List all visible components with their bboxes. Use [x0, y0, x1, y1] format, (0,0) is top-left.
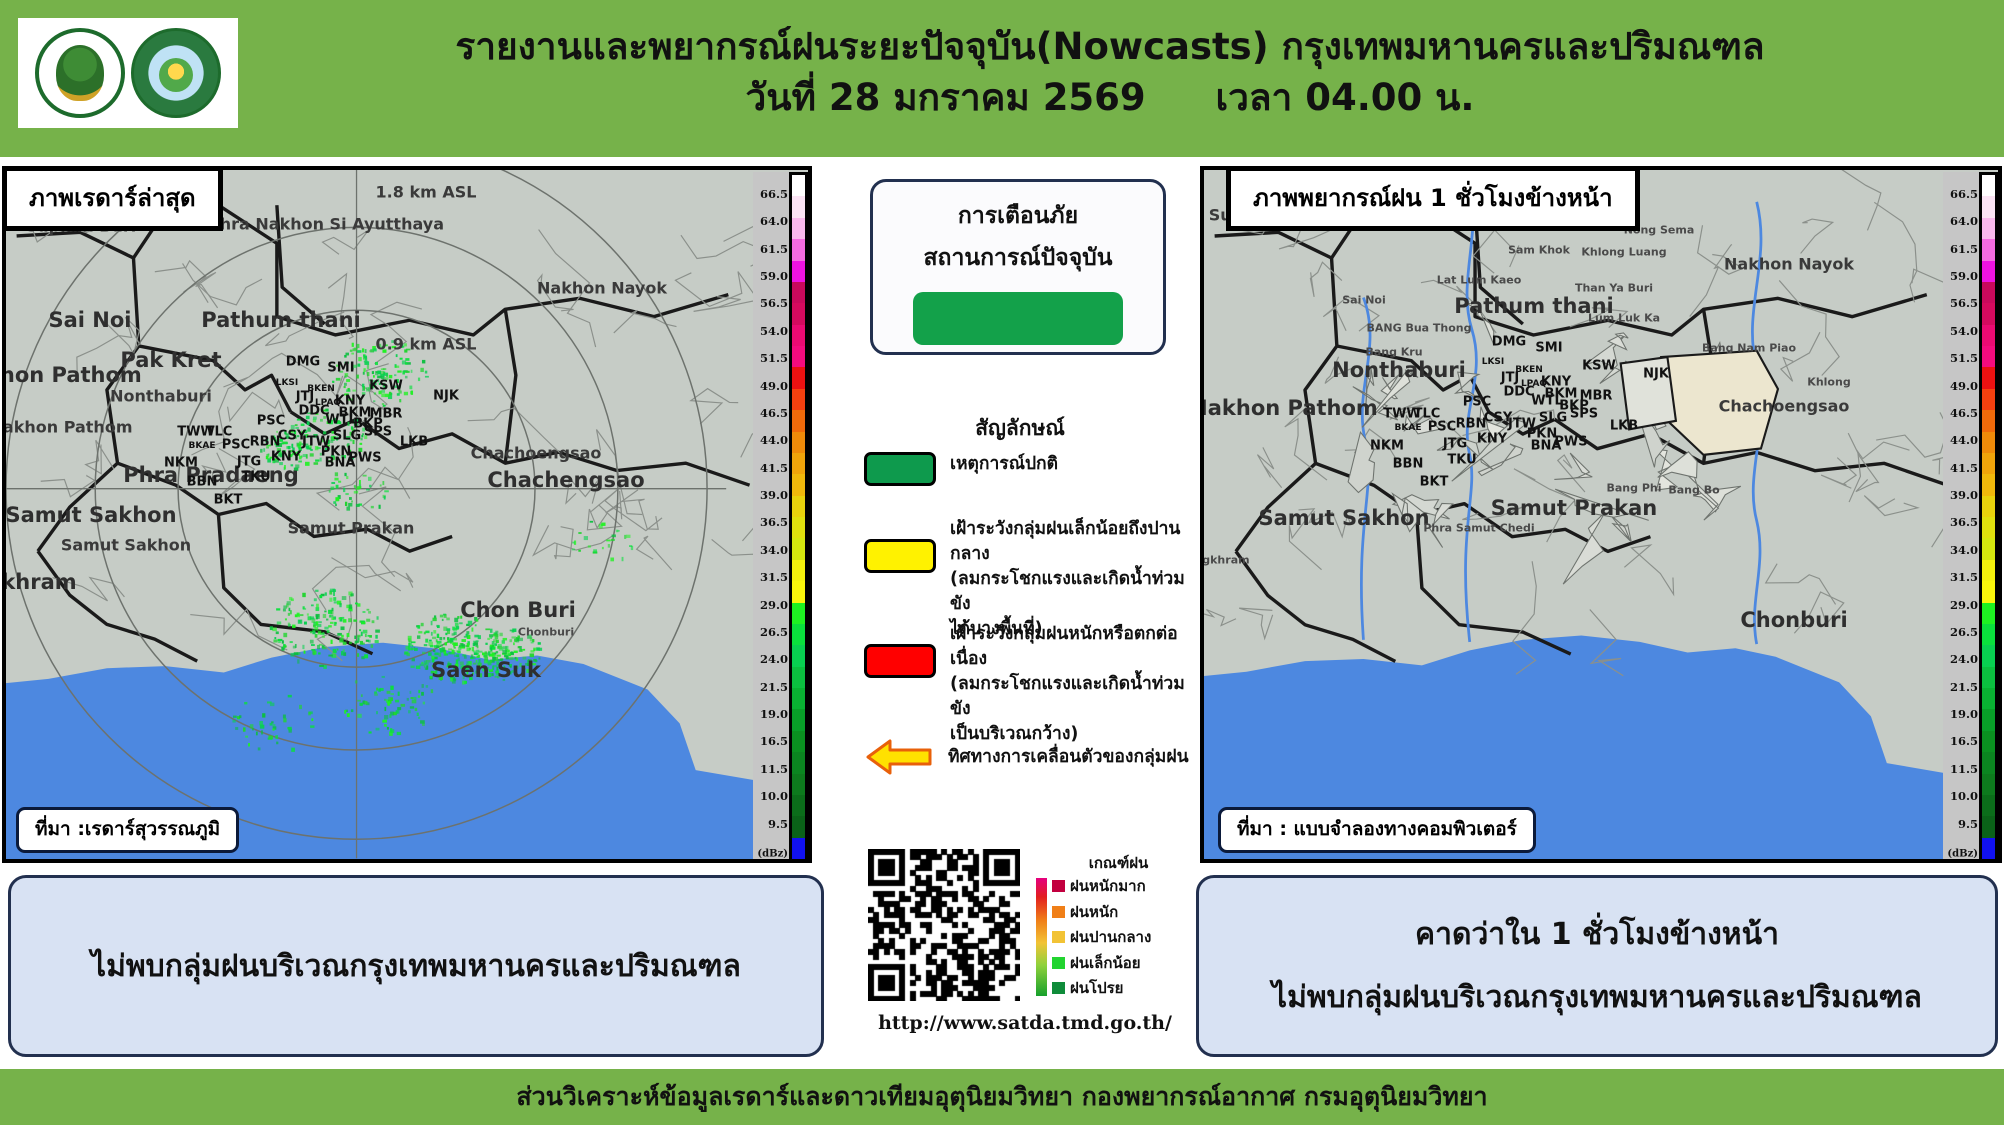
forecast-panel-title: ภาพพยากรณ์ฝน 1 ชั่วโมงข้างหน้า	[1226, 166, 1640, 231]
legend-label-movement: ทิศทางการเคลื่อนตัวของกลุ่มฝน	[948, 745, 1189, 770]
colorbar-band	[1982, 346, 1995, 367]
rain-scale-item: ฝนเล็กน้อย	[1052, 955, 1151, 971]
forecast-map-graphic	[1204, 170, 1998, 863]
rain-scale-chip	[1052, 982, 1065, 994]
alert-card: การเตือนภัย สถานการณ์ปัจจุบัน	[870, 179, 1166, 355]
radar-panel-title: ภาพเรดาร์ล่าสุด	[2, 166, 223, 231]
colorbar-tick: 54.0	[760, 324, 788, 338]
colorbar-tick: 51.5	[1950, 351, 1978, 365]
legend-heading: สัญลักษณ์	[840, 412, 1200, 445]
colorbar-band	[792, 325, 805, 346]
colorbar-tick: 11.5	[1950, 762, 1978, 776]
colorbar-band	[792, 752, 805, 773]
colorbar-tick: 34.0	[760, 543, 788, 557]
colorbar-band	[792, 432, 805, 453]
radar-colorbar: 66.564.061.559.056.554.051.549.046.544.0…	[753, 172, 808, 862]
colorbar-tick: 61.5	[1950, 242, 1978, 256]
colorbar-tick: 19.0	[760, 707, 788, 721]
colorbar-tick: 31.5	[760, 570, 788, 584]
colorbar-band	[792, 175, 805, 196]
forecast-map-panel[interactable]: ภาพพยากรณ์ฝน 1 ชั่วโมงข้างหน้า ที่มา : แ…	[1200, 166, 2002, 863]
colorbar-band	[1982, 688, 1995, 709]
colorbar-band	[792, 261, 805, 282]
colorbar-band	[1982, 645, 1995, 666]
colorbar-band	[1982, 325, 1995, 346]
page-header: รายงานและพยากรณ์ฝนระยะปัจจุบัน(Nowcasts)…	[0, 0, 2004, 157]
colorbar-band	[792, 688, 805, 709]
radar-summary-box: ไม่พบกลุ่มฝนบริเวณกรุงเทพมหานครและปริมณฑ…	[8, 875, 824, 1057]
colorbar-band	[1982, 709, 1995, 730]
rain-scale-item: ฝนหนัก	[1052, 904, 1151, 920]
colorbar-tick: 9.5	[768, 817, 788, 831]
colorbar-unit: (dBz)	[1947, 849, 1978, 860]
colorbar-band	[1982, 389, 1995, 410]
colorbar-band	[1982, 774, 1995, 795]
title-datetime: วันที่ 28 มกราคม 2569 เวลา 04.00 น.	[240, 72, 1980, 124]
main-content: ภาพเรดาร์ล่าสุด 1.8 km ASL 0.9 km ASL ที…	[0, 157, 2004, 1069]
footer-text: ส่วนวิเคราะห์ข้อมูลเรดาร์และดาวเทียมอุตุ…	[516, 1077, 1487, 1117]
rain-scale-chip	[1052, 880, 1065, 892]
colorbar-band	[1982, 367, 1995, 388]
colorbar-band	[792, 453, 805, 474]
colorbar-band	[1982, 303, 1995, 324]
center-column: การเตือนภัย สถานการณ์ปัจจุบัน สัญลักษณ์ …	[840, 157, 1200, 1069]
colorbar-tick: 26.5	[760, 625, 788, 639]
legend-item-watch-heavy: เฝ้าระวังกลุ่มฝนหนักหรือตกต่อเนื่อง (ลมก…	[864, 622, 1204, 747]
green-status-swatch	[864, 452, 936, 486]
legend-item-movement: ทิศทางการเคลื่อนตัวของกลุ่มฝน	[864, 737, 1204, 777]
rain-scale-label: ฝนโปรย	[1070, 980, 1123, 996]
rain-scale-title: เกณฑ์ฝน	[1036, 851, 1201, 875]
colorbar-band	[792, 774, 805, 795]
royal-rainmaking-seal-icon	[35, 28, 125, 118]
rain-scale-gradient	[1036, 878, 1047, 996]
colorbar-band	[1982, 731, 1995, 752]
colorbar-tick: 10.0	[760, 789, 788, 803]
rain-scale-chip	[1052, 906, 1065, 918]
title-time: เวลา 04.00 น.	[1215, 76, 1474, 119]
colorbar-band	[1982, 816, 1995, 837]
colorbar-tick: 39.0	[760, 488, 788, 502]
colorbar-tick: 49.0	[1950, 379, 1978, 393]
colorbar-band	[1982, 410, 1995, 431]
colorbar-band	[792, 538, 805, 559]
radar-map-graphic	[6, 170, 808, 863]
alert-status-badge	[913, 292, 1123, 345]
radar-map-panel[interactable]: ภาพเรดาร์ล่าสุด 1.8 km ASL 0.9 km ASL ที…	[2, 166, 812, 863]
forecast-source-tag: ที่มา : แบบจำลองทางคอมพิวเตอร์	[1218, 807, 1536, 853]
website-url[interactable]: http://www.satda.tmd.go.th/	[850, 1012, 1200, 1034]
colorbar-band	[1982, 432, 1995, 453]
colorbar-tick: 46.5	[760, 406, 788, 420]
colorbar-band	[1982, 517, 1995, 538]
colorbar-band	[792, 603, 805, 624]
rain-scale-label: ฝนหนัก	[1070, 904, 1118, 920]
colorbar-band	[1982, 496, 1995, 517]
colorbar-band	[792, 645, 805, 666]
forecast-summary-text-2: ไม่พบกลุ่มฝนบริเวณกรุงเทพมหานครและปริมณฑ…	[1272, 974, 1922, 1021]
radar-summary-text: ไม่พบกลุ่มฝนบริเวณกรุงเทพมหานครและปริมณฑ…	[91, 943, 741, 990]
colorbar-band	[792, 560, 805, 581]
colorbar-tick: 11.5	[760, 762, 788, 776]
colorbar-tick: 21.5	[760, 680, 788, 694]
page-title: รายงานและพยากรณ์ฝนระยะปัจจุบัน(Nowcasts)…	[240, 22, 1980, 124]
rain-scale-label: ฝนปานกลาง	[1070, 929, 1151, 945]
colorbar-band	[1982, 560, 1995, 581]
colorbar-band	[1982, 239, 1995, 260]
rain-scale-item: ฝนโปรย	[1052, 980, 1151, 996]
colorbar-band	[792, 838, 805, 859]
colorbar-band	[792, 303, 805, 324]
yellow-status-swatch	[864, 539, 936, 573]
colorbar-tick: 61.5	[760, 242, 788, 256]
colorbar-tick: 64.0	[1950, 214, 1978, 228]
alert-title-line1: การเตือนภัย	[873, 198, 1163, 234]
colorbar-tick: 49.0	[760, 379, 788, 393]
legend-item-normal: เหตุการณ์ปกติ	[864, 452, 1204, 486]
colorbar-tick: 39.0	[1950, 488, 1978, 502]
colorbar-band	[792, 367, 805, 388]
legend-label-watch-heavy: เฝ้าระวังกลุ่มฝนหนักหรือตกต่อเนื่อง (ลมก…	[950, 622, 1204, 747]
colorbar-band	[792, 816, 805, 837]
colorbar-band	[792, 474, 805, 495]
tmd-seal-icon	[131, 28, 221, 118]
colorbar-tick: 26.5	[1950, 625, 1978, 639]
colorbar-tick: 56.5	[1950, 296, 1978, 310]
forecast-colorbar-ticks: 66.564.061.559.056.554.051.549.046.544.0…	[1943, 172, 1979, 862]
red-status-swatch	[864, 644, 936, 678]
colorbar-tick: 10.0	[1950, 789, 1978, 803]
colorbar-band	[792, 709, 805, 730]
colorbar-band	[1982, 538, 1995, 559]
rain-scale-chip	[1052, 957, 1065, 969]
colorbar-tick: 29.0	[760, 598, 788, 612]
colorbar-band	[792, 517, 805, 538]
colorbar-tick: 24.0	[760, 652, 788, 666]
colorbar-tick: 19.0	[1950, 707, 1978, 721]
rain-scale-chip	[1052, 931, 1065, 943]
forecast-summary-box: คาดว่าใน 1 ชั่วโมงข้างหน้า ไม่พบกลุ่มฝนบ…	[1196, 875, 1998, 1057]
colorbar-tick: 46.5	[1950, 406, 1978, 420]
colorbar-tick: 36.5	[760, 515, 788, 529]
colorbar-band	[1982, 838, 1995, 859]
colorbar-band	[1982, 196, 1995, 217]
radar-source-tag: ที่มา :เรดาร์สุวรรณภูมิ	[16, 807, 239, 853]
colorbar-band	[1982, 581, 1995, 602]
colorbar-band	[1982, 261, 1995, 282]
colorbar-tick: 41.5	[760, 461, 788, 475]
colorbar-band	[792, 624, 805, 645]
colorbar-band	[1982, 453, 1995, 474]
forecast-colorbar: 66.564.061.559.056.554.051.549.046.544.0…	[1943, 172, 1998, 862]
colorbar-band	[792, 218, 805, 239]
colorbar-band	[1982, 282, 1995, 303]
colorbar-band	[792, 239, 805, 260]
rain-scale-item: ฝนปานกลาง	[1052, 929, 1151, 945]
movement-arrow-icon	[864, 737, 934, 777]
colorbar-band	[1982, 752, 1995, 773]
agency-logos	[18, 18, 238, 128]
colorbar-tick: 64.0	[760, 214, 788, 228]
qr-and-rain-scale: เกณฑ์ฝน ฝนหนักมากฝนหนักฝนปานกลางฝนเล็กน้…	[868, 849, 1198, 1009]
colorbar-tick: 29.0	[1950, 598, 1978, 612]
colorbar-band	[792, 196, 805, 217]
rain-scale-label: ฝนเล็กน้อย	[1070, 955, 1141, 971]
colorbar-band	[792, 795, 805, 816]
forecast-summary-text-1: คาดว่าใน 1 ชั่วโมงข้างหน้า	[1415, 911, 1779, 958]
rain-scale-item: ฝนหนักมาก	[1052, 878, 1151, 894]
page-footer: ส่วนวิเคราะห์ข้อมูลเรดาร์และดาวเทียมอุตุ…	[0, 1069, 2004, 1125]
colorbar-band	[792, 581, 805, 602]
colorbar-band	[792, 731, 805, 752]
qr-code-icon[interactable]	[868, 849, 1020, 1001]
colorbar-band	[792, 282, 805, 303]
colorbar-tick: 66.5	[760, 187, 788, 201]
colorbar-tick: 34.0	[1950, 543, 1978, 557]
colorbar-tick: 24.0	[1950, 652, 1978, 666]
alert-title-line2: สถานการณ์ปัจจุบัน	[873, 240, 1163, 276]
colorbar-band	[792, 496, 805, 517]
rain-scale-label: ฝนหนักมาก	[1070, 878, 1146, 894]
colorbar-tick: 41.5	[1950, 461, 1978, 475]
colorbar-band	[1982, 474, 1995, 495]
colorbar-unit: (dBz)	[757, 849, 788, 860]
colorbar-tick: 21.5	[1950, 680, 1978, 694]
rain-scale-items: ฝนหนักมากฝนหนักฝนปานกลางฝนเล็กน้อยฝนโปรย	[1052, 878, 1151, 996]
colorbar-band	[792, 410, 805, 431]
colorbar-band	[1982, 795, 1995, 816]
colorbar-tick: 54.0	[1950, 324, 1978, 338]
colorbar-tick: 66.5	[1950, 187, 1978, 201]
radar-colorbar-ticks: 66.564.061.559.056.554.051.549.046.544.0…	[753, 172, 789, 862]
colorbar-tick: 9.5	[1958, 817, 1978, 831]
colorbar-tick: 51.5	[760, 351, 788, 365]
colorbar-band	[1982, 218, 1995, 239]
colorbar-tick: 44.0	[1950, 433, 1978, 447]
colorbar-tick: 36.5	[1950, 515, 1978, 529]
forecast-colorbar-strip	[1979, 172, 1998, 862]
colorbar-band	[1982, 624, 1995, 645]
colorbar-band	[792, 346, 805, 367]
colorbar-tick: 16.5	[760, 734, 788, 748]
colorbar-tick: 56.5	[760, 296, 788, 310]
colorbar-band	[1982, 175, 1995, 196]
colorbar-band	[792, 667, 805, 688]
colorbar-tick: 31.5	[1950, 570, 1978, 584]
colorbar-band	[792, 389, 805, 410]
radar-colorbar-strip	[789, 172, 808, 862]
colorbar-tick: 44.0	[760, 433, 788, 447]
legend-label-normal: เหตุการณ์ปกติ	[950, 452, 1058, 477]
colorbar-band	[1982, 603, 1995, 624]
rain-intensity-scale: เกณฑ์ฝน ฝนหนักมากฝนหนักฝนปานกลางฝนเล็กน้…	[1036, 851, 1201, 996]
colorbar-tick: 16.5	[1950, 734, 1978, 748]
colorbar-tick: 59.0	[760, 269, 788, 283]
colorbar-tick: 59.0	[1950, 269, 1978, 283]
title-main: รายงานและพยากรณ์ฝนระยะปัจจุบัน(Nowcasts)…	[240, 22, 1980, 72]
colorbar-band	[1982, 667, 1995, 688]
title-date: วันที่ 28 มกราคม 2569	[746, 76, 1146, 119]
